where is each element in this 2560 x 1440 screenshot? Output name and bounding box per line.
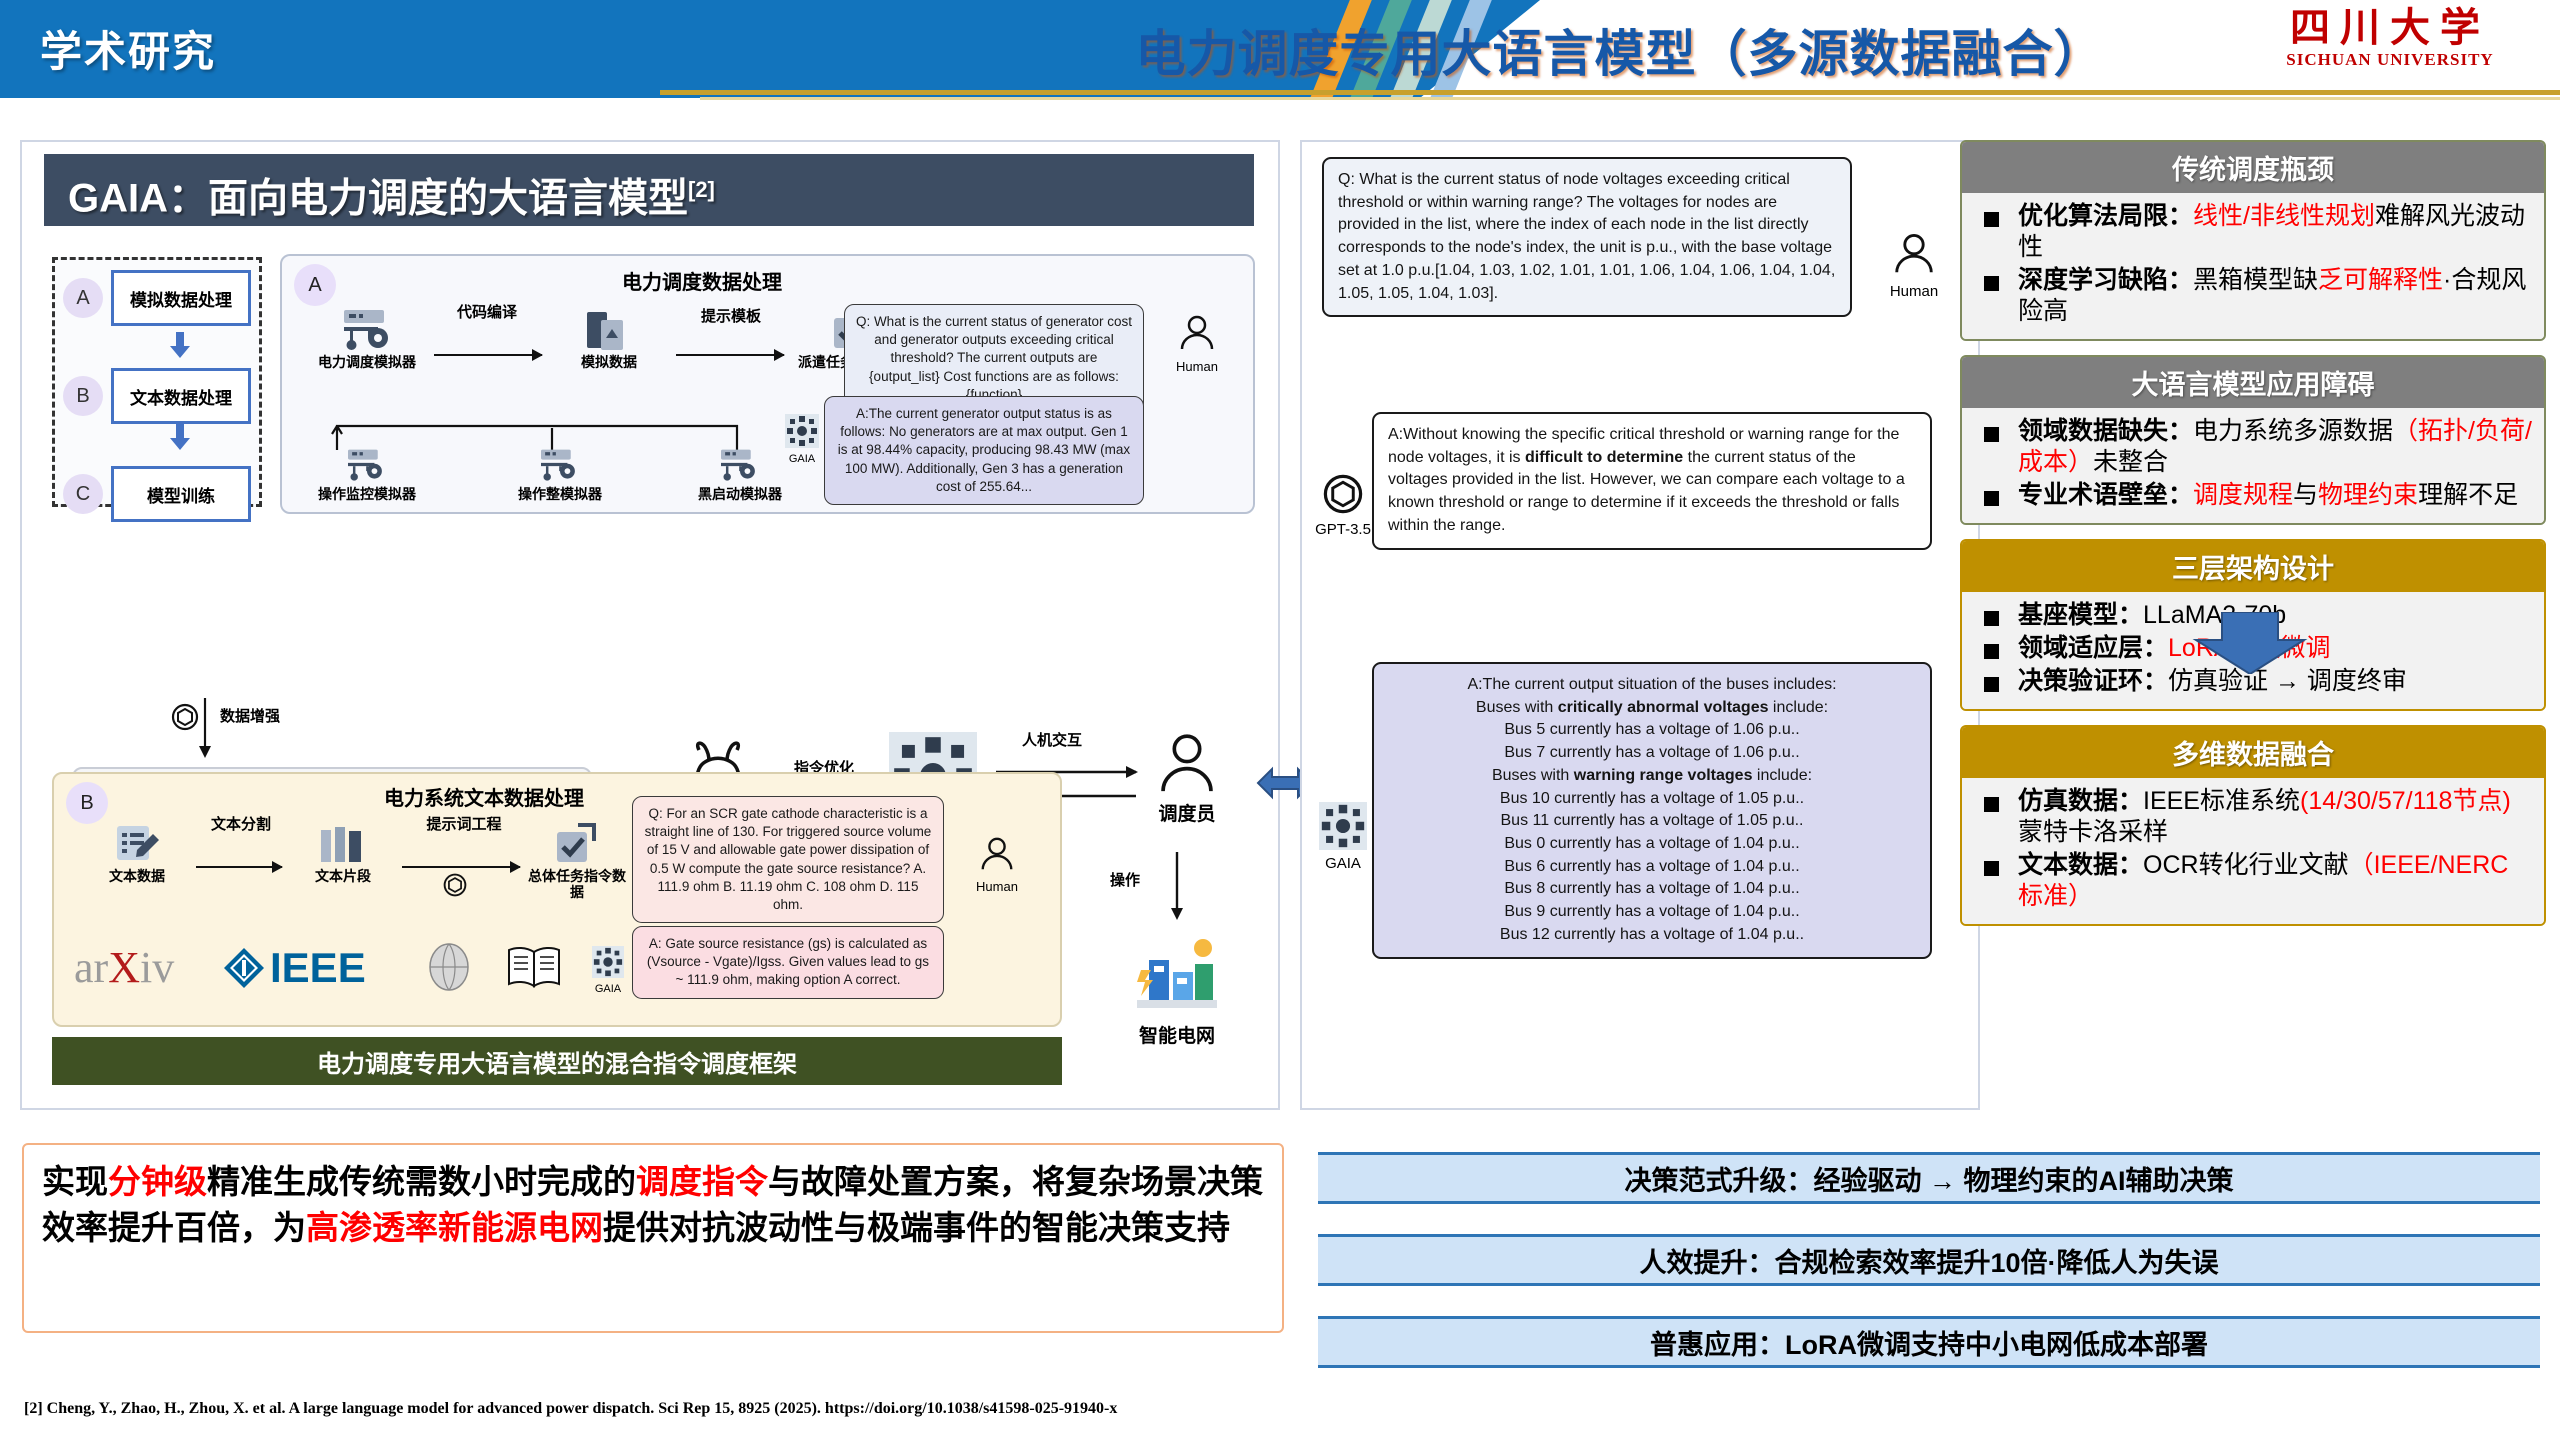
panel-a-gaia-avatar: GAIA <box>774 414 830 465</box>
list-item: Bus 8 currently has a voltage of 1.04 p.… <box>1388 878 1916 901</box>
node-operation-adjust-simulator: 操作整模拟器 <box>500 448 620 502</box>
insight-card-2: 大语言模型应用障碍领域数据缺失：电力系统多源数据（拓扑/负荷/成本）未整合专业术… <box>1960 355 2546 525</box>
list-item: Bus 6 currently has a voltage of 1.04 p.… <box>1388 856 1916 879</box>
server-gear-icon-2 <box>343 448 391 486</box>
merge-connector-lines <box>322 414 782 452</box>
node-label-power-dispatch-simulator: 电力调度模拟器 <box>312 354 422 370</box>
panel-b-gaia-label: GAIA <box>580 983 636 995</box>
insight-card-title-3: 三层架构设计 <box>1962 541 2544 592</box>
panel-a-title: 电力调度数据处理 <box>622 266 782 295</box>
node-label-operation-adjust-simulator: 操作整模拟器 <box>500 486 620 502</box>
scu-logo-en: SICHUAN UNIVERSITY <box>2240 50 2540 70</box>
gaia-framework-panel: GAIA：面向电力调度的大语言模型[2] A 模拟数据处理 B 文本数据处理 C… <box>20 140 1280 1110</box>
smart-grid-icon <box>1129 930 1225 1016</box>
panel-a-human-avatar: Human <box>1162 314 1232 374</box>
bullet-segment: 乏可解释性 <box>2318 266 2443 294</box>
gaia-banner-text: GAIA：面向电力调度的大语言模型 <box>68 176 688 220</box>
panel-a-answer-bubble: A:The current generator output status is… <box>824 396 1144 505</box>
openai-logo-icon-4 <box>1321 472 1365 516</box>
bullet-item: 深度学习缺陷：黑箱模型缺乏可解释性·合规风险高 <box>1974 265 2532 327</box>
gaia-critical-bold: critically abnormal voltages <box>1558 699 1769 716</box>
bullet-segment: 优化算法局限： <box>2018 202 2193 230</box>
arrow-prompt-engineering <box>402 866 520 868</box>
bullet-segment: 线性/非线性规划 <box>2193 202 2375 230</box>
server-gear-icon-4 <box>716 448 764 486</box>
panel-a-badge: A <box>294 264 336 306</box>
gpt35-label: GPT-3.5 <box>1308 521 1378 538</box>
insight-card-title-1: 传统调度瓶颈 <box>1962 142 2544 193</box>
gpt35-answer-bubble: A:Without knowing the specific critical … <box>1372 412 1932 550</box>
bullet-segment: 未整合 <box>2093 448 2168 476</box>
conclusion-segment: 提供对抗波动性与极端事件的智能决策支持 <box>603 1209 1230 1246</box>
header-category-label: 学术研究 <box>40 18 216 79</box>
gaia-critical-pre: Buses with <box>1476 699 1558 716</box>
node-label-operation-monitor-simulator: 操作监控模拟器 <box>312 486 422 502</box>
bullet-segment: 物理约束 <box>2318 481 2418 509</box>
arxiv-logo: arXiv <box>74 942 174 993</box>
bullet-segment: 电力系统多源数据 <box>2193 417 2393 445</box>
abc-step-c: C 模型训练 <box>55 462 259 526</box>
list-item: Bus 7 currently has a voltage of 1.06 p.… <box>1388 742 1916 765</box>
arrow-text-split <box>196 866 282 868</box>
node-operation-monitor-simulator: 操作监控模拟器 <box>312 448 422 502</box>
insight-card-body-1: 优化算法局限：线性/非线性规划难解风光波动性深度学习缺陷：黑箱模型缺乏可解释性·… <box>1962 193 2544 339</box>
abc-step-a: A 模拟数据处理 <box>55 266 259 330</box>
document-edit-icon <box>113 822 161 868</box>
bullet-segment: (14/30/57/118节点) <box>2300 787 2511 815</box>
list-item: Bus 9 currently has a voltage of 1.04 p.… <box>1388 901 1916 924</box>
gaia-warning-bold: warning range voltages <box>1574 767 1753 784</box>
person-icon-dispatcher <box>1158 732 1216 794</box>
bullet-segment: 理解不足 <box>2418 481 2518 509</box>
label-operate: 操作 <box>1110 872 1140 889</box>
bullet-segment: 黑箱模型缺 <box>2193 266 2318 294</box>
files-icon <box>583 308 635 354</box>
down-flow-arrow <box>2190 612 2310 674</box>
page-title: 电力调度专用大语言模型（多源数据融合） <box>880 14 2360 86</box>
wikipedia-globe-icon <box>424 942 474 992</box>
node-power-dispatch-simulator: 电力调度模拟器 <box>312 308 422 370</box>
down-arrow-icon <box>167 332 193 358</box>
gaia-critical-header: Buses with critically abnormal voltages … <box>1388 697 1916 720</box>
conclusion-box: 实现分钟级精准生成传统需数小时完成的调度指令与故障处置方案，将复杂场景决策效率提… <box>22 1143 1284 1333</box>
node-label-simulation-data: 模拟数据 <box>554 354 664 370</box>
header-gold-rule <box>660 90 2560 95</box>
panel-b-human-label: Human <box>962 879 1032 894</box>
books-logo <box>506 944 562 995</box>
step-box-b: 文本数据处理 <box>111 368 251 424</box>
smart-grid-label: 智能电网 <box>1107 1021 1247 1048</box>
panel-b-answer-bubble: A: Gate source resistance (gs) is calcul… <box>632 926 944 999</box>
abc-step-b: B 文本数据处理 <box>55 364 259 428</box>
bullet-item: 领域数据缺失：电力系统多源数据（拓扑/负荷/成本）未整合 <box>1974 416 2532 478</box>
sichuan-university-logo: 四川大学 SICHUAN UNIVERSITY <box>2240 6 2540 70</box>
list-item: Bus 5 currently has a voltage of 1.06 p.… <box>1388 719 1916 742</box>
gaia-critical-list: Bus 5 currently has a voltage of 1.06 p.… <box>1388 719 1916 764</box>
bullet-item: 文本数据：OCR转化行业文献（IEEE/NERC标准） <box>1974 850 2532 912</box>
panel-b-human-avatar: Human <box>962 836 1032 894</box>
panel-a-gaia-label: GAIA <box>774 453 830 465</box>
openai-logo-icon <box>170 702 200 732</box>
node-simulation-data: 模拟数据 <box>554 308 664 370</box>
gaia-answer-bubble: A:The current output situation of the bu… <box>1372 662 1932 959</box>
conclusion-segment: 分钟级 <box>108 1163 207 1200</box>
node-label-text-segments: 文本片段 <box>290 868 396 884</box>
ieee-logo: IEEE <box>222 946 366 990</box>
gaia-warning-list: Bus 10 currently has a voltage of 1.05 p… <box>1388 788 1916 947</box>
panel-a-simulation-data: A 电力调度数据处理 电力调度模拟器 代码编译 模拟数据 提示模板 <box>280 254 1255 514</box>
arrow-code-compile <box>434 354 542 356</box>
mid-human-label: Human <box>1874 283 1954 300</box>
conclusion-segment: 调度指令 <box>636 1163 768 1200</box>
list-item: Bus 10 currently has a voltage of 1.05 p… <box>1388 788 1916 811</box>
gaia-critical-post: include: <box>1768 699 1828 716</box>
server-gear-icon-3 <box>536 448 584 486</box>
server-gear-icon <box>338 308 396 354</box>
step-box-c: 模型训练 <box>111 466 251 522</box>
conclusion-segment: 实现 <box>42 1163 108 1200</box>
gaia-warning-post: include: <box>1752 767 1812 784</box>
arrow-prompt-template <box>676 354 784 356</box>
node-text-data: 文本数据 <box>82 822 192 884</box>
insight-card-title-4: 多维数据融合 <box>1962 727 2544 778</box>
gaia-banner-reference: [2] <box>688 177 715 202</box>
checked-doc-icon-2 <box>552 822 602 868</box>
insight-card-body-4: 仿真数据：IEEE标准系统(14/30/57/118节点)蒙特卡洛采样文本数据：… <box>1962 778 2544 924</box>
step-box-a: 模拟数据处理 <box>111 270 251 326</box>
bullet-segment: 领域适应层： <box>2018 634 2168 662</box>
down-arrow-icon-2 <box>167 424 193 450</box>
header-gold-rule-thin <box>700 97 2560 100</box>
bullet-item: 专业术语壁垒：调度规程与物理约束理解不足 <box>1974 480 2532 511</box>
gaia-answer-head: A:The current output situation of the bu… <box>1388 674 1916 697</box>
conclusion-segment: 高渗透率新能源电网 <box>306 1209 603 1246</box>
bullet-segment: 仿真数据： <box>2018 787 2143 815</box>
open-book-icon <box>506 944 562 990</box>
highlight-bar-1: 决策范式升级：经验驱动 → 物理约束的AI辅助决策 <box>1318 1152 2540 1204</box>
node-label-black-start-simulator: 黑启动模拟器 <box>680 486 800 502</box>
mid-gaia-label: GAIA <box>1310 855 1376 872</box>
gpt35-answer-bold: difficult to determine <box>1525 449 1683 466</box>
insight-card-1: 传统调度瓶颈优化算法局限：线性/非线性规划难解风光波动性深度学习缺陷：黑箱模型缺… <box>1960 140 2546 341</box>
dispatcher-label: 调度员 <box>1132 799 1242 826</box>
bullet-segment: 蒙特卡洛采样 <box>2018 818 2168 846</box>
highlight-bar-3: 普惠应用：LoRA微调支持中小电网低成本部署 <box>1318 1316 2540 1368</box>
smart-grid-node: 智能电网 <box>1107 930 1247 1048</box>
dispatcher-node: 调度员 <box>1132 732 1242 826</box>
list-item: Bus 12 currently has a voltage of 1.04 p… <box>1388 924 1916 947</box>
insight-card-body-2: 领域数据缺失：电力系统多源数据（拓扑/负荷/成本）未整合专业术语壁垒：调度规程与… <box>1962 408 2544 523</box>
bullet-segment: OCR转化行业文献 <box>2143 851 2349 879</box>
panel-b-gaia-avatar: GAIA <box>580 946 636 995</box>
gaia-hub-icon-4 <box>1319 802 1367 850</box>
panel-b-title: 电力系统文本数据处理 <box>384 782 584 811</box>
label-data-augmentation: 数据增强 <box>220 708 280 725</box>
bullet-segment: 决策验证环： <box>2018 667 2168 695</box>
gaia-hub-icon-3 <box>592 946 624 978</box>
node-label-task-instruction-data: 总体任务指令数据 <box>522 868 632 900</box>
panel-a-human-label: Human <box>1162 359 1232 374</box>
mid-gaia-avatar: GAIA <box>1310 802 1376 872</box>
node-label-text-data: 文本数据 <box>82 868 192 884</box>
comparison-dialog-column: Q: What is the current status of node vo… <box>1300 140 1980 1110</box>
gaia-hub-icon <box>785 414 819 448</box>
segments-icon <box>315 822 371 868</box>
gpt35-avatar: GPT-3.5 <box>1308 472 1378 538</box>
wikipedia-logo <box>424 942 474 997</box>
step-badge-a: A <box>63 278 103 318</box>
highlight-bar-2: 人效提升：合规检索效率提升10倍·降低人为失误 <box>1318 1234 2540 1286</box>
arrow-label-code-compile: 代码编译 <box>432 304 542 321</box>
framework-green-bar: 电力调度专用大语言模型的混合指令调度框架 <box>52 1037 1062 1085</box>
insight-card-4: 多维数据融合仿真数据：IEEE标准系统(14/30/57/118节点)蒙特卡洛采… <box>1960 725 2546 926</box>
insight-cards-column: 传统调度瓶颈优化算法局限：线性/非线性规划难解风光波动性深度学习缺陷：黑箱模型缺… <box>1960 140 2546 940</box>
panel-b-badge: B <box>66 782 108 824</box>
insight-card-title-2: 大语言模型应用障碍 <box>1962 357 2544 408</box>
bullet-item: 仿真数据：IEEE标准系统(14/30/57/118节点)蒙特卡洛采样 <box>1974 786 2532 848</box>
bullet-segment: 深度学习缺陷： <box>2018 266 2193 294</box>
ieee-diamond-icon <box>222 946 266 990</box>
abc-steps-group: A 模拟数据处理 B 文本数据处理 C 模型训练 <box>52 257 262 507</box>
person-icon-2 <box>978 836 1016 874</box>
bullet-segment: 调度规程 <box>2193 481 2293 509</box>
conclusion-segment: 精准生成传统需数小时完成的 <box>207 1163 636 1200</box>
gaia-warning-pre: Buses with <box>1492 767 1574 784</box>
mid-human-avatar: Human <box>1874 232 1954 300</box>
bullet-segment: 专业术语壁垒： <box>2018 481 2193 509</box>
panel-b-question-bubble: Q: For an SCR gate cathode characteristi… <box>632 796 944 923</box>
list-item: Bus 0 currently has a voltage of 1.04 p.… <box>1388 833 1916 856</box>
label-human-machine-interaction: 人机交互 <box>1022 732 1082 749</box>
arrow-label-prompt-template: 提示模板 <box>676 308 786 325</box>
gaia-warning-header: Buses with warning range voltages includ… <box>1388 765 1916 788</box>
node-task-instruction-data: 总体任务指令数据 <box>522 822 632 900</box>
list-item: Bus 11 currently has a voltage of 1.05 p… <box>1388 810 1916 833</box>
bullet-segment: 基座模型： <box>2018 601 2143 629</box>
scu-logo-cn: 四川大学 <box>2240 6 2540 50</box>
bullet-segment: 文本数据： <box>2018 851 2143 879</box>
bullet-item: 优化算法局限：线性/非线性规划难解风光波动性 <box>1974 201 2532 263</box>
step-badge-c: C <box>63 474 103 514</box>
bullet-segment: 领域数据缺失： <box>2018 417 2193 445</box>
arrow-label-text-split: 文本分割 <box>196 816 286 833</box>
panel-b-text-data: B 电力系统文本数据处理 文本数据 文本分割 文本片段 提示词工程 <box>52 772 1062 1027</box>
page-header: 学术研究 电力调度专用大语言模型（多源数据融合） 四川大学 SICHUAN UN… <box>0 0 2560 98</box>
openai-logo-icon-3 <box>442 872 468 898</box>
arrow-down-augment <box>198 698 212 760</box>
reference-footnote: [2] Cheng, Y., Zhao, H., Zhou, X. et al.… <box>24 1400 2424 1418</box>
gaia-banner-title: GAIA：面向电力调度的大语言模型[2] <box>44 154 1254 226</box>
arrow-down-operate <box>1170 852 1184 922</box>
mid-question-bubble: Q: What is the current status of node vo… <box>1322 157 1852 317</box>
bullet-segment: IEEE标准系统 <box>2143 787 2300 815</box>
step-badge-b: B <box>63 376 103 416</box>
bullet-segment: 与 <box>2293 481 2318 509</box>
arrow-label-prompt-engineering: 提示词工程 <box>404 816 524 833</box>
person-icon-3 <box>1891 232 1937 278</box>
node-text-segments: 文本片段 <box>290 822 396 884</box>
person-icon <box>1177 314 1217 354</box>
